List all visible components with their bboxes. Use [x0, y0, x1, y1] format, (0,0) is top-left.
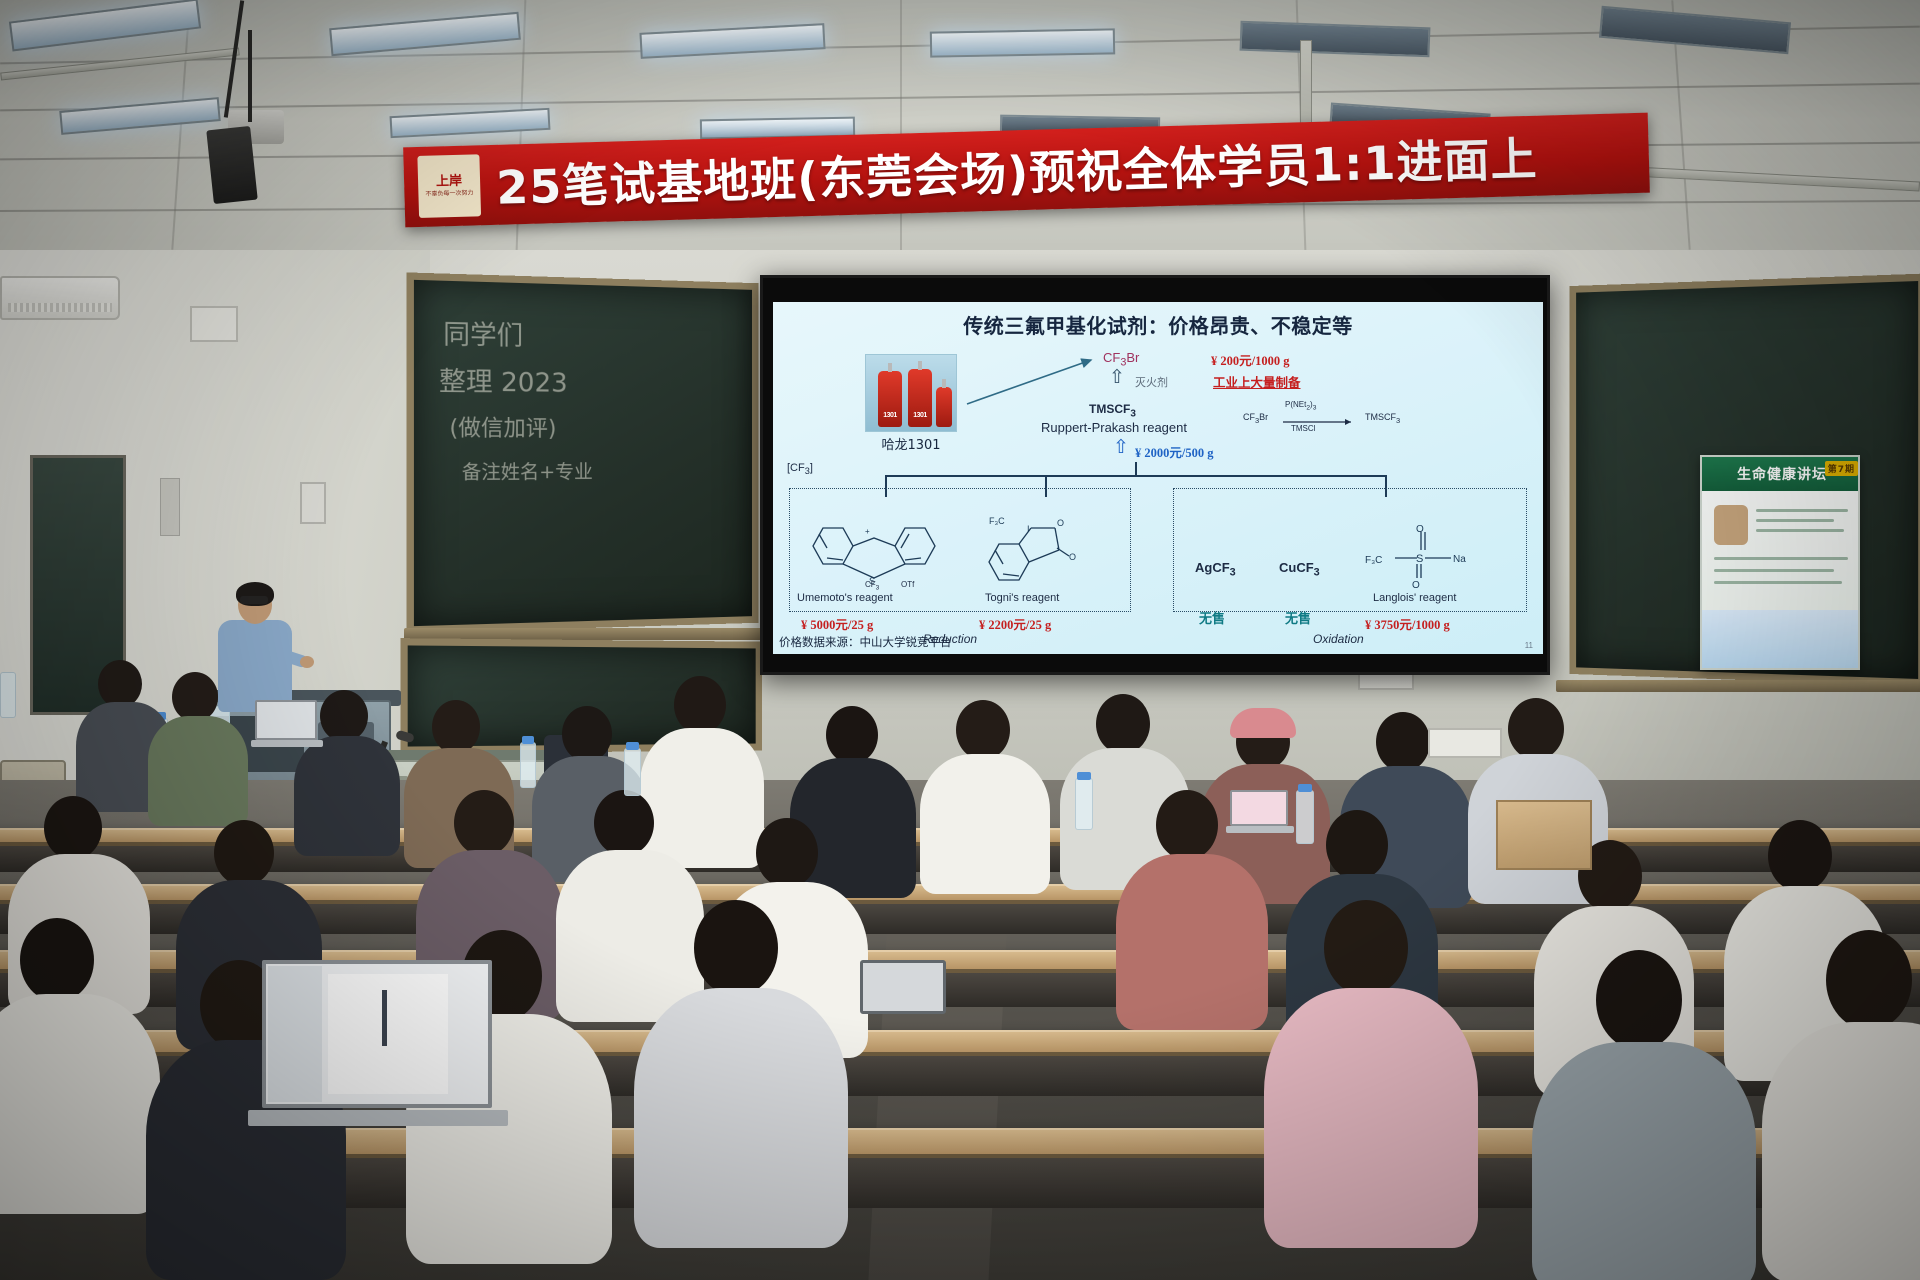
- student-head: [44, 796, 102, 860]
- umemoto-substituent: CF3: [865, 580, 879, 592]
- umemoto-counterion: OTf: [901, 580, 914, 589]
- water-bottle: [0, 672, 16, 718]
- laptop-base: [1226, 826, 1294, 833]
- poster-text-line: [1714, 557, 1848, 560]
- umemoto-price: ¥ 5000元/25 g: [801, 614, 873, 633]
- svg-text:O: O: [1069, 552, 1076, 562]
- student-head: [956, 700, 1010, 760]
- student-head: [826, 706, 878, 764]
- up-arrow-icon: ⇧: [1113, 438, 1129, 457]
- langlois-structure: F₃C S O O Na: [1359, 518, 1509, 588]
- laptop-base: [251, 740, 323, 747]
- poster-text-line: [1756, 529, 1844, 532]
- student-body: [556, 850, 704, 1022]
- cucf3-price: 无售: [1285, 608, 1311, 627]
- water-bottle: [520, 742, 536, 788]
- extinguisher-cylinder: 1301: [908, 369, 932, 427]
- chalk-line: (做信加评): [449, 410, 556, 443]
- cylinder-label: 1301: [883, 412, 897, 419]
- student-head: [20, 918, 94, 1002]
- banner-logo: 上岸 不辜负每一次努力: [417, 154, 481, 218]
- student-head: [454, 790, 514, 856]
- up-arrow-icon: ⇧: [1109, 368, 1125, 387]
- student-cap: [1230, 708, 1296, 738]
- umemoto-structure: S +: [805, 498, 945, 584]
- poster-text-line: [1756, 519, 1834, 522]
- cf3-source-label: [CF3]: [787, 462, 813, 476]
- agcf3-formula: AgCF3: [1195, 560, 1236, 579]
- tablet[interactable]: [860, 960, 946, 1014]
- poster-text-line: [1756, 509, 1848, 512]
- laptop-base: [248, 1110, 508, 1126]
- wall-conduit: [160, 478, 180, 536]
- lecture-hall-photo: 上岸 不辜负每一次努力 25笔试基地班(东莞会场)预祝全体学员1:1进面上 同学…: [0, 0, 1920, 1280]
- reaction-reagent-below: TMSCl: [1291, 424, 1315, 433]
- poster-portrait: [1714, 505, 1748, 545]
- student-head: [98, 660, 142, 708]
- speaker-mount: [248, 30, 252, 122]
- wall-switch: [300, 482, 326, 524]
- student-head: [694, 900, 778, 996]
- blackboard-left: 同学们 整理 2023 (做信加评) 备注姓名+专业: [407, 272, 759, 633]
- wall-speaker: [206, 126, 257, 204]
- student-head: [1508, 698, 1564, 760]
- student-head: [594, 790, 654, 856]
- slide-page-number: 11: [1525, 641, 1533, 650]
- power-outlet[interactable]: [1428, 728, 1502, 758]
- ceiling-light: [930, 28, 1115, 57]
- cf3br-industry-note: 工业上大量制备: [1213, 372, 1301, 391]
- langlois-name: Langlois' reagent: [1373, 592, 1456, 604]
- langlois-price: ¥ 3750元/1000 g: [1365, 614, 1450, 633]
- projection-screen: 传统三氟甲基化试剂：价格昂贵、不稳定等 1301 1301 哈龙1301: [760, 275, 1550, 675]
- svg-text:I: I: [1027, 524, 1030, 534]
- svg-text:Na: Na: [1453, 554, 1466, 565]
- umemoto-name: Umemoto's reagent: [797, 592, 893, 604]
- student-body: [920, 754, 1050, 894]
- water-bottle: [624, 748, 641, 796]
- laptop-screen: [255, 700, 317, 740]
- student-head: [1768, 820, 1832, 892]
- laptop-sidebar: [268, 966, 322, 1102]
- student-head: [432, 700, 480, 754]
- student-head: [1326, 810, 1388, 880]
- student-head: [1324, 900, 1408, 996]
- student-body: [148, 716, 248, 826]
- chalk-rail-right: [1556, 680, 1920, 692]
- student-head: [172, 672, 218, 722]
- tmscf3-name: Ruppert-Prakash reagent: [1041, 420, 1187, 435]
- laptop-screen: [1230, 790, 1288, 826]
- poster-text-line: [1714, 581, 1842, 584]
- tmscf3-price: ¥ 2000元/500 g: [1135, 442, 1213, 461]
- air-conditioner: [0, 276, 120, 320]
- tree-stem: [1135, 462, 1137, 476]
- banner-logo-main: 上岸: [436, 175, 462, 189]
- svg-text:O: O: [1412, 580, 1420, 588]
- poster-badge: 第7期: [1825, 461, 1858, 476]
- tree-branch: [885, 475, 1385, 477]
- student-body: [634, 988, 848, 1248]
- cylinder-label: 1301: [913, 412, 927, 419]
- student-body: [1762, 1022, 1920, 1280]
- bottle-cap: [522, 736, 534, 744]
- extinguisher-cylinder: 1301: [878, 371, 902, 427]
- water-bottle: [1296, 790, 1314, 844]
- student-head: [674, 676, 726, 734]
- bottle-cap: [1077, 772, 1091, 780]
- pointer-arrow: [963, 352, 1103, 408]
- student-head: [1096, 694, 1150, 754]
- fire-extinguisher-photo: 1301 1301: [865, 354, 957, 432]
- poster-header-text: 生命健康讲坛: [1737, 464, 1827, 484]
- tmscf3-formula: TMSCF3: [1089, 402, 1136, 419]
- togni-price: ¥ 2200元/25 g: [979, 614, 1051, 633]
- slide-content: 传统三氟甲基化试剂：价格昂贵、不稳定等 1301 1301 哈龙1301: [773, 302, 1543, 654]
- cardboard-box: [1496, 800, 1592, 870]
- svg-text:F₃C: F₃C: [1365, 555, 1382, 566]
- svg-text:F₃C: F₃C: [989, 516, 1005, 526]
- lecturer-glasses: [240, 596, 268, 604]
- student-body: [640, 728, 764, 868]
- togni-structure: I O O F₃C: [973, 498, 1093, 590]
- banner-logo-sub: 不辜负每一次努力: [425, 190, 473, 198]
- water-bottle: [1075, 778, 1093, 830]
- svg-text:+: +: [865, 527, 870, 536]
- student-body: [0, 994, 160, 1214]
- halon-label: 哈龙1301: [851, 434, 971, 453]
- slide-title: 传统三氟甲基化试剂：价格昂贵、不稳定等: [773, 310, 1543, 339]
- svg-text:O: O: [1416, 524, 1424, 535]
- student-head: [756, 818, 818, 888]
- reaction-reagent-above: P(NEt2)3: [1285, 400, 1316, 412]
- laptop-doc-area: [328, 974, 448, 1094]
- wall-plate: [190, 306, 238, 342]
- student-head: [1596, 950, 1682, 1050]
- student-head: [1826, 930, 1912, 1030]
- chalk-line: 整理 2023: [439, 361, 568, 400]
- student-body: [1264, 988, 1478, 1248]
- student-head: [214, 820, 274, 886]
- bottle-cap: [626, 742, 639, 750]
- student-body: [1532, 1042, 1756, 1280]
- poster-text-line: [1714, 569, 1834, 572]
- reaction-reactant: CF3Br: [1243, 412, 1268, 425]
- laptop-doc-line: [382, 990, 387, 1046]
- cucf3-formula: CuCF3: [1279, 560, 1320, 579]
- student-body: [1116, 854, 1268, 1030]
- price-source-note: 价格数据来源：中山大学锐竞平台: [779, 634, 952, 650]
- cf3br-formula: CF3Br: [1103, 350, 1139, 369]
- chalk-line: 同学们: [443, 314, 523, 353]
- event-poster: 生命健康讲坛 第7期: [1700, 455, 1860, 670]
- svg-text:O: O: [1057, 518, 1064, 528]
- oxidation-caption: Oxidation: [1313, 632, 1364, 646]
- student-head: [1376, 712, 1430, 772]
- poster-header: 生命健康讲坛 第7期: [1702, 457, 1860, 491]
- lecturer-hand: [300, 656, 314, 668]
- poster-footer-graphic: [1702, 610, 1860, 668]
- bottle-cap: [1298, 784, 1312, 792]
- ac-vent: [8, 303, 112, 312]
- student-body: [294, 736, 400, 856]
- student-head: [320, 690, 368, 742]
- extinguisher-cylinder-small: [936, 387, 952, 427]
- cf3br-role: 灭火剂: [1135, 374, 1168, 390]
- reaction-product: TMSCF3: [1365, 412, 1400, 425]
- cf3br-price: ¥ 200元/1000 g: [1211, 350, 1289, 369]
- student-head: [1156, 790, 1218, 860]
- chalk-line: 备注姓名+专业: [462, 457, 593, 485]
- svg-text:S: S: [1416, 553, 1423, 565]
- lecturer-body: [218, 620, 292, 712]
- student-head: [562, 706, 612, 762]
- togni-name: Togni's reagent: [985, 592, 1059, 604]
- agcf3-price: 无售: [1199, 608, 1225, 627]
